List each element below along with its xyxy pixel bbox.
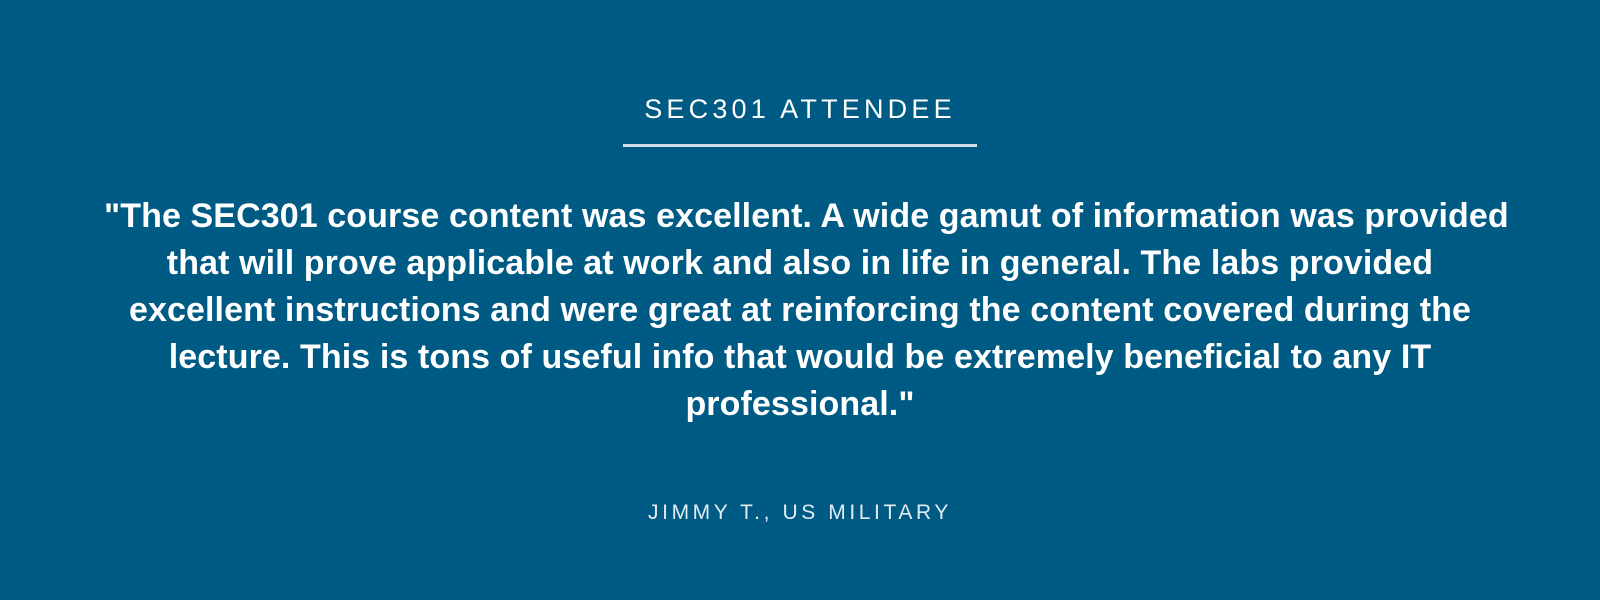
horizontal-rule <box>623 144 977 147</box>
quote-line: lecture. This is tons of useful info tha… <box>104 334 1496 381</box>
divider-container <box>0 144 1600 147</box>
testimonial-eyebrow: SEC301 ATTENDEE <box>644 96 956 123</box>
quote-line: excellent instructions and were great at… <box>104 287 1496 334</box>
testimonial-quote: "The SEC301 course content was excellent… <box>104 193 1496 428</box>
quote-line: professional." <box>104 381 1496 428</box>
quote-line: "The SEC301 course content was excellent… <box>104 193 1496 240</box>
testimonial-attribution: JIMMY T., US MILITARY <box>648 502 952 523</box>
quote-line: that will prove applicable at work and a… <box>104 240 1496 287</box>
testimonial-card: SEC301 ATTENDEE "The SEC301 course conte… <box>0 0 1600 600</box>
